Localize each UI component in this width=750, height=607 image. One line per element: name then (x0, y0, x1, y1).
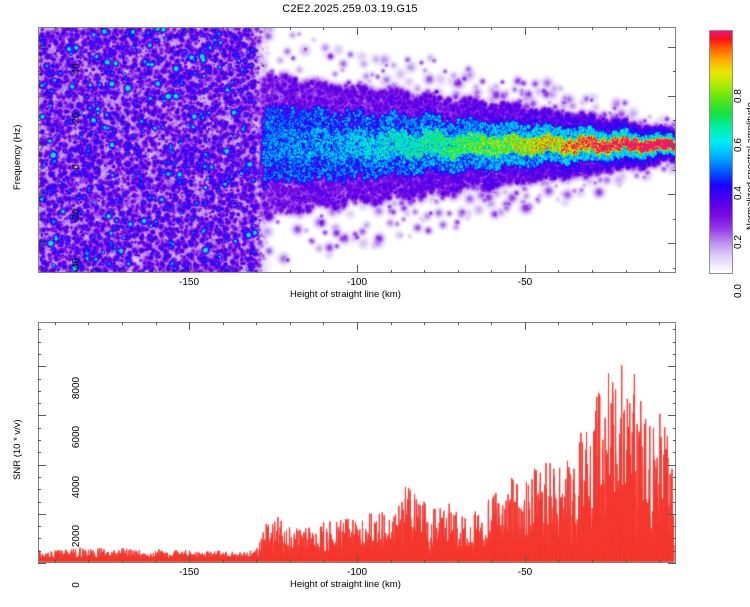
x-tick-minor (424, 270, 425, 273)
y-tick-minor (38, 538, 41, 539)
colorbar-tick-label: 0.8 (733, 79, 745, 113)
y-tick-minor-right (673, 526, 676, 527)
x-tick-minor-top (290, 322, 291, 325)
y-tick-label: 20 (71, 96, 83, 140)
x-tick-major-top (357, 27, 358, 35)
x-tick-minor-top (156, 322, 157, 325)
spectrogram-image (39, 28, 675, 272)
y-tick-major (38, 96, 46, 97)
y-tick-minor-right (673, 403, 676, 404)
x-tick-minor-top (88, 27, 89, 30)
y-tick-major-right (668, 194, 676, 195)
y-tick-minor (38, 489, 41, 490)
y-tick-minor (38, 551, 41, 552)
colorbar-tick-label: 0.2 (733, 225, 745, 259)
x-tick-minor (223, 270, 224, 273)
x-tick-minor-top (592, 27, 593, 30)
y-tick-minor (38, 329, 41, 330)
snr-trace-line (39, 323, 675, 562)
y-tick-minor (38, 268, 41, 269)
x-tick-minor-top (323, 27, 324, 30)
x-tick-minor-top (491, 322, 492, 325)
x-tick-minor (88, 560, 89, 563)
y-tick-minor-right (673, 342, 676, 343)
y-tick-minor (38, 502, 41, 503)
x-tick-minor-top (323, 322, 324, 325)
x-tick-minor (122, 270, 123, 273)
x-tick-minor (55, 560, 56, 563)
x-tick-minor-top (558, 322, 559, 325)
x-tick-minor-top (424, 322, 425, 325)
spectrogram-plot-area (38, 27, 676, 273)
y-tick-minor (38, 71, 41, 72)
y-tick-minor (38, 354, 41, 355)
y-tick-minor-right (673, 71, 676, 72)
y-tick-minor (38, 452, 41, 453)
y-tick-label: 4000 (71, 465, 83, 509)
y-tick-major (38, 243, 46, 244)
page-title: C2E2.2025.259.03.19.G15 (0, 3, 700, 15)
x-tick-label: -50 (500, 567, 550, 578)
x-tick-minor-top (55, 322, 56, 325)
x-tick-major (189, 265, 190, 273)
y-tick-minor (38, 342, 41, 343)
y-tick-minor-right (673, 428, 676, 429)
x-tick-minor (290, 270, 291, 273)
x-tick-minor (558, 560, 559, 563)
x-tick-minor (223, 560, 224, 563)
y-tick-major-right (668, 145, 676, 146)
x-tick-minor (458, 560, 459, 563)
snr-ylabel: SNR (10 * v/v) (12, 419, 23, 480)
x-tick-minor (156, 270, 157, 273)
y-tick-minor (38, 379, 41, 380)
x-tick-minor (323, 270, 324, 273)
x-tick-minor-top (391, 27, 392, 30)
y-tick-major (38, 145, 46, 146)
x-tick-label: -100 (332, 567, 382, 578)
y-tick-major (38, 563, 46, 564)
x-tick-major-top (525, 322, 526, 330)
x-tick-minor-top (626, 322, 627, 325)
y-tick-major-right (668, 47, 676, 48)
x-tick-minor-top (592, 322, 593, 325)
y-tick-major-right (668, 563, 676, 564)
y-tick-minor-right (673, 452, 676, 453)
x-tick-major (357, 265, 358, 273)
y-tick-label: -40 (71, 243, 83, 287)
y-tick-minor (38, 120, 41, 121)
y-tick-major-right (668, 415, 676, 416)
y-tick-minor (38, 170, 41, 171)
y-tick-minor-right (673, 477, 676, 478)
x-tick-minor-top (156, 27, 157, 30)
y-tick-minor (38, 391, 41, 392)
x-tick-label: -100 (332, 277, 382, 288)
x-tick-minor (626, 270, 627, 273)
x-tick-minor (458, 270, 459, 273)
x-tick-minor-top (458, 27, 459, 30)
y-tick-major-right (668, 465, 676, 466)
x-tick-minor (491, 270, 492, 273)
x-tick-minor (122, 560, 123, 563)
x-tick-minor (391, 270, 392, 273)
y-tick-minor (38, 440, 41, 441)
y-tick-label: 0 (71, 563, 83, 607)
y-tick-minor-right (673, 440, 676, 441)
x-tick-minor (290, 560, 291, 563)
y-tick-minor-right (673, 379, 676, 380)
y-tick-major-right (668, 96, 676, 97)
x-tick-minor-top (659, 322, 660, 325)
y-tick-label: 8000 (71, 366, 83, 410)
x-tick-major (357, 555, 358, 563)
x-tick-minor-top (491, 27, 492, 30)
x-tick-minor-top (122, 322, 123, 325)
snr-plot-area (38, 322, 676, 563)
y-tick-minor-right (673, 120, 676, 121)
colorbar-label: Normalized spectral amplitude (745, 102, 750, 230)
x-tick-minor (424, 560, 425, 563)
spectrogram-ylabel: Frequency (Hz) (12, 125, 23, 190)
x-tick-minor (558, 270, 559, 273)
y-tick-minor-right (673, 538, 676, 539)
figure-root: C2E2.2025.259.03.19.G15 -150-100-50-40-2… (0, 0, 750, 600)
x-tick-minor (659, 270, 660, 273)
colorbar-tick-label: 0.6 (733, 128, 745, 162)
x-tick-label: -50 (500, 277, 550, 288)
colorbar-tick-label: 0.0 (733, 274, 745, 308)
x-tick-minor-top (424, 27, 425, 30)
x-tick-major (189, 555, 190, 563)
x-tick-label: -150 (164, 567, 214, 578)
y-tick-major (38, 366, 46, 367)
x-tick-minor-top (88, 322, 89, 325)
spectrogram-xlabel: Height of straight line (km) (290, 289, 401, 300)
x-tick-minor-top (256, 27, 257, 30)
y-tick-minor (38, 403, 41, 404)
x-tick-major (525, 265, 526, 273)
x-tick-major (525, 555, 526, 563)
y-tick-minor-right (673, 329, 676, 330)
y-tick-major (38, 465, 46, 466)
x-tick-minor (256, 270, 257, 273)
x-tick-major-top (189, 322, 190, 330)
x-tick-minor-top (256, 322, 257, 325)
x-tick-minor (55, 270, 56, 273)
x-tick-minor-top (558, 27, 559, 30)
x-tick-minor (156, 560, 157, 563)
y-tick-major (38, 415, 46, 416)
x-tick-minor (323, 560, 324, 563)
x-tick-minor-top (626, 27, 627, 30)
x-tick-minor-top (223, 27, 224, 30)
x-tick-label: -150 (164, 277, 214, 288)
x-tick-minor-top (391, 322, 392, 325)
x-tick-minor-top (223, 322, 224, 325)
x-tick-minor (659, 560, 660, 563)
y-tick-minor (38, 526, 41, 527)
x-tick-major-top (525, 27, 526, 35)
x-tick-minor (626, 560, 627, 563)
y-tick-major (38, 194, 46, 195)
y-tick-minor-right (673, 551, 676, 552)
y-tick-minor-right (673, 268, 676, 269)
x-tick-minor-top (458, 322, 459, 325)
x-tick-minor-top (122, 27, 123, 30)
y-tick-minor (38, 428, 41, 429)
colorbar-tick-label: 0.4 (733, 176, 745, 210)
x-tick-minor (592, 560, 593, 563)
x-tick-minor (256, 560, 257, 563)
y-tick-minor-right (673, 170, 676, 171)
y-tick-label: 6000 (71, 415, 83, 459)
x-tick-minor (592, 270, 593, 273)
y-tick-minor-right (673, 489, 676, 490)
x-tick-major-top (357, 322, 358, 330)
x-tick-minor-top (55, 27, 56, 30)
x-tick-major-top (189, 27, 190, 35)
colorbar (709, 30, 733, 274)
y-tick-major (38, 47, 46, 48)
x-tick-minor (491, 560, 492, 563)
y-tick-label: 0 (71, 145, 83, 189)
y-tick-minor-right (673, 354, 676, 355)
y-tick-minor (38, 219, 41, 220)
y-tick-major-right (668, 366, 676, 367)
x-tick-minor-top (659, 27, 660, 30)
y-tick-major (38, 514, 46, 515)
colorbar-gradient (710, 31, 732, 273)
y-tick-major-right (668, 514, 676, 515)
snr-xlabel: Height of straight line (km) (290, 579, 401, 590)
y-tick-label: -20 (71, 194, 83, 238)
x-tick-minor (88, 270, 89, 273)
x-tick-minor (391, 560, 392, 563)
y-tick-minor-right (673, 219, 676, 220)
y-tick-minor-right (673, 391, 676, 392)
y-tick-major-right (668, 243, 676, 244)
x-tick-minor-top (290, 27, 291, 30)
y-tick-minor-right (673, 502, 676, 503)
y-tick-minor (38, 477, 41, 478)
y-tick-label: 2000 (71, 514, 83, 558)
y-tick-label: 40 (71, 47, 83, 91)
